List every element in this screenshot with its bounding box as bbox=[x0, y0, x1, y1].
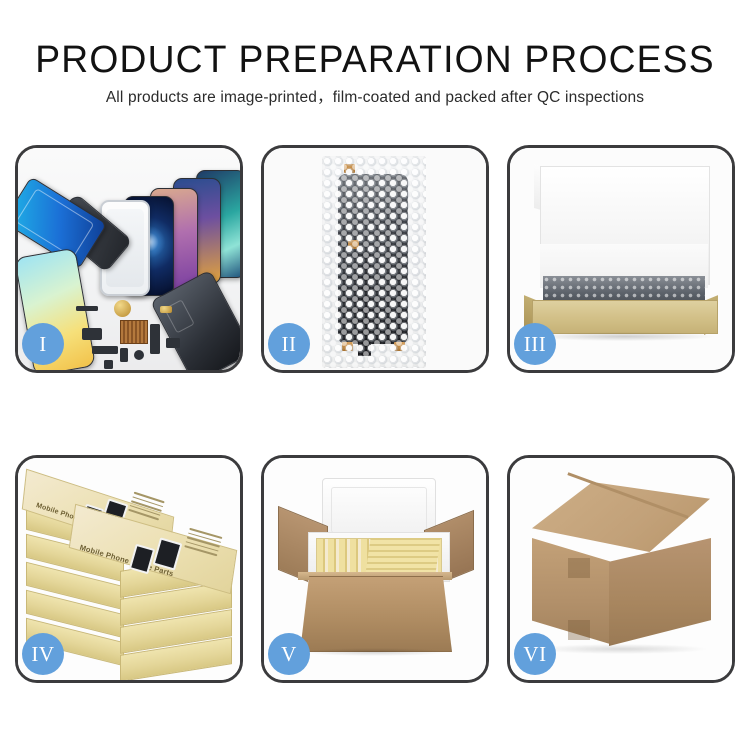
step-badge-2: II bbox=[268, 323, 310, 365]
carton-shadow bbox=[538, 644, 706, 654]
process-step-6: VI bbox=[507, 455, 735, 683]
page-subtitle: All products are image-printed，film-coat… bbox=[0, 88, 750, 108]
header: PRODUCT PREPARATION PROCESS All products… bbox=[0, 38, 750, 108]
part-flex bbox=[92, 346, 118, 354]
logic-board-chip bbox=[120, 320, 148, 344]
process-step-5: V bbox=[261, 455, 489, 683]
packed-boxes-angled bbox=[365, 538, 440, 574]
part-small bbox=[120, 348, 128, 362]
part-screw-plate bbox=[104, 360, 113, 369]
part-module bbox=[82, 328, 102, 340]
bubble-wrap-package bbox=[322, 156, 426, 368]
process-step-3: III bbox=[507, 145, 735, 373]
carton-tab-upper bbox=[568, 558, 590, 578]
box-shadow bbox=[534, 332, 714, 341]
part-speaker bbox=[134, 350, 144, 360]
carton-front-panel bbox=[300, 576, 452, 652]
part-flex-cable bbox=[150, 324, 160, 354]
product-preparation-infographic: PRODUCT PREPARATION PROCESS All products… bbox=[0, 0, 750, 750]
gold-camera-ring bbox=[114, 300, 131, 317]
step-badge-5: V bbox=[268, 633, 310, 675]
process-step-2: II bbox=[261, 145, 489, 373]
step-badge-1: I bbox=[22, 323, 64, 365]
page-title: PRODUCT PREPARATION PROCESS bbox=[8, 38, 743, 82]
step-badge-6: VI bbox=[514, 633, 556, 675]
carton-shadow bbox=[304, 648, 446, 656]
process-step-1: I bbox=[15, 145, 243, 373]
process-step-4: Mobile Phone Spare Parts Mobile Phone Sp… bbox=[15, 455, 243, 683]
part-strip bbox=[76, 306, 98, 311]
step-badge-4: IV bbox=[22, 633, 64, 675]
gold-connector bbox=[160, 306, 172, 313]
process-step-grid: I II bbox=[15, 145, 735, 683]
carton-tab-lower bbox=[568, 620, 590, 640]
spare-parts-cluster bbox=[74, 298, 202, 370]
step-badge-3: III bbox=[514, 323, 556, 365]
box-front-kraft bbox=[532, 300, 718, 334]
part-bracket bbox=[166, 338, 180, 348]
bubble-texture-offset bbox=[322, 156, 426, 368]
